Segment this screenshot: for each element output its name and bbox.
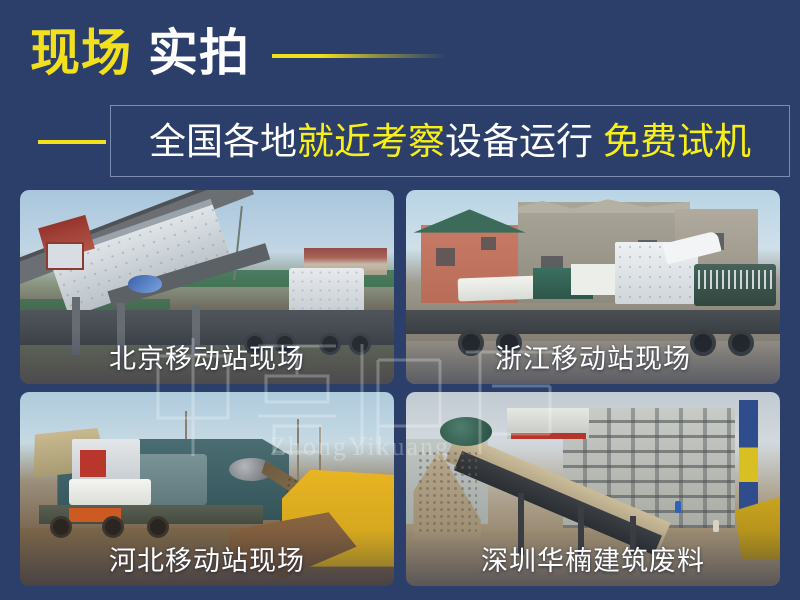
subheadline-segment-4: 免费试机 <box>603 121 751 162</box>
gallery-item[interactable]: 浙江移动站现场 <box>406 190 780 384</box>
subheadline-box: 全国各地就近考察设备运行免费试机 <box>110 105 790 177</box>
gallery-item-caption: 深圳华楠建筑废料 <box>406 530 780 586</box>
subheadline-segment-3: 设备运行 <box>445 121 593 162</box>
gallery-item-caption: 北京移动站现场 <box>20 328 394 384</box>
subheadline-segment-2: 就近考察 <box>297 121 445 162</box>
promo-banner: 现场 实拍 全国各地就近考察设备运行免费试机 <box>0 0 800 600</box>
gallery-item-caption: 浙江移动站现场 <box>406 328 780 384</box>
subheadline-text: 全国各地就近考察设备运行免费试机 <box>149 123 751 160</box>
subheadline-segment-1: 全国各地 <box>149 121 297 162</box>
horizontal-rule-icon <box>272 54 447 58</box>
gallery-item[interactable]: 河北移动站现场 <box>20 392 394 586</box>
page-title-rest: 实拍 <box>148 28 250 78</box>
horizontal-rule-icon <box>38 140 106 144</box>
page-title: 现场 实拍 <box>30 22 447 84</box>
photo-gallery: 北京移动站现场 <box>20 190 780 586</box>
page-title-highlight: 现场 <box>30 28 132 78</box>
gallery-item[interactable]: 深圳华楠建筑废料 <box>406 392 780 586</box>
gallery-item[interactable]: 北京移动站现场 <box>20 190 394 384</box>
gallery-item-caption: 河北移动站现场 <box>20 530 394 586</box>
